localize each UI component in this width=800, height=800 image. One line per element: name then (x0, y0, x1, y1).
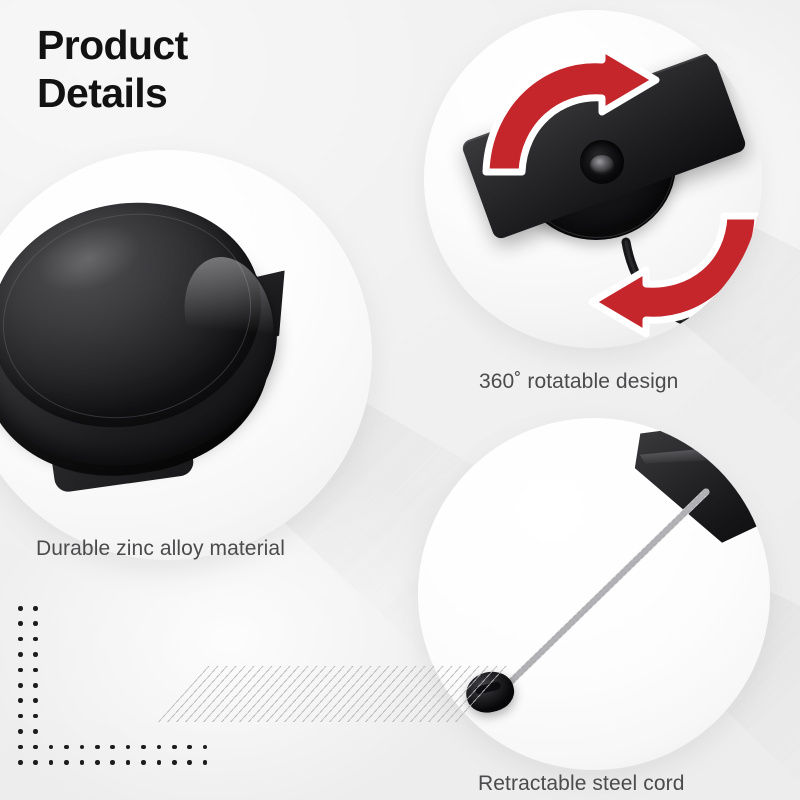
grid-dot (18, 760, 23, 765)
grid-dot (126, 745, 131, 750)
feature-image-rotatable (424, 10, 762, 348)
grid-dot (95, 760, 100, 765)
grid-dot (110, 745, 115, 750)
grid-dot (95, 745, 100, 750)
grid-dot (80, 760, 85, 765)
grid-dot (203, 745, 208, 750)
grid-dot (187, 760, 192, 765)
grid-dot (157, 760, 162, 765)
braided-steel-cable (478, 488, 718, 718)
grid-dot (18, 668, 23, 673)
grid-dot (33, 652, 38, 657)
diagonal-hatch-decoration (158, 666, 508, 722)
steel-cord-art (418, 418, 770, 770)
page-title: Product Details (37, 22, 367, 118)
grid-dot (33, 760, 38, 765)
grid-dot (33, 698, 38, 703)
grid-dot (18, 729, 23, 734)
feature-caption-rotatable: 360˚ rotatable design (479, 370, 678, 394)
grid-dot (33, 621, 38, 626)
grid-dot (126, 760, 131, 765)
grid-dot (110, 760, 115, 765)
zinc-alloy-housing-art (0, 182, 280, 482)
grid-dot (33, 729, 38, 734)
grid-dot (33, 668, 38, 673)
counter-clockwise-rotation-arrow (588, 208, 762, 338)
feature-caption-zinc-alloy: Durable zinc alloy material (36, 537, 285, 561)
product-details-infographic: Product Details Durable zinc alloy mater… (0, 0, 800, 800)
grid-dot (172, 745, 177, 750)
grid-dot (18, 683, 23, 688)
feature-image-steel-cord (418, 418, 770, 770)
grid-dot (203, 760, 208, 765)
grid-dot (18, 714, 23, 719)
grid-dot (141, 760, 146, 765)
grid-dot (187, 745, 192, 750)
grid-dot (80, 745, 85, 750)
grid-dot (18, 698, 23, 703)
clockwise-rotation-arrow (476, 46, 676, 186)
grid-dot (18, 745, 23, 750)
grid-dot (33, 606, 38, 611)
grid-dot (64, 745, 69, 750)
grid-dot (18, 606, 23, 611)
grid-dot (18, 652, 23, 657)
grid-dot (172, 760, 177, 765)
grid-dot (49, 745, 54, 750)
rotating-bracket-art (448, 36, 748, 336)
grid-dot (33, 683, 38, 688)
grid-dot (18, 637, 23, 642)
grid-dot (18, 621, 23, 626)
grid-dot (49, 760, 54, 765)
grid-dot (33, 637, 38, 642)
grid-dot (141, 745, 146, 750)
grid-dot (33, 745, 38, 750)
feature-caption-steel-cord: Retractable steel cord (478, 772, 684, 796)
grid-dot (157, 745, 162, 750)
grid-dot (64, 760, 69, 765)
grid-dot (33, 714, 38, 719)
